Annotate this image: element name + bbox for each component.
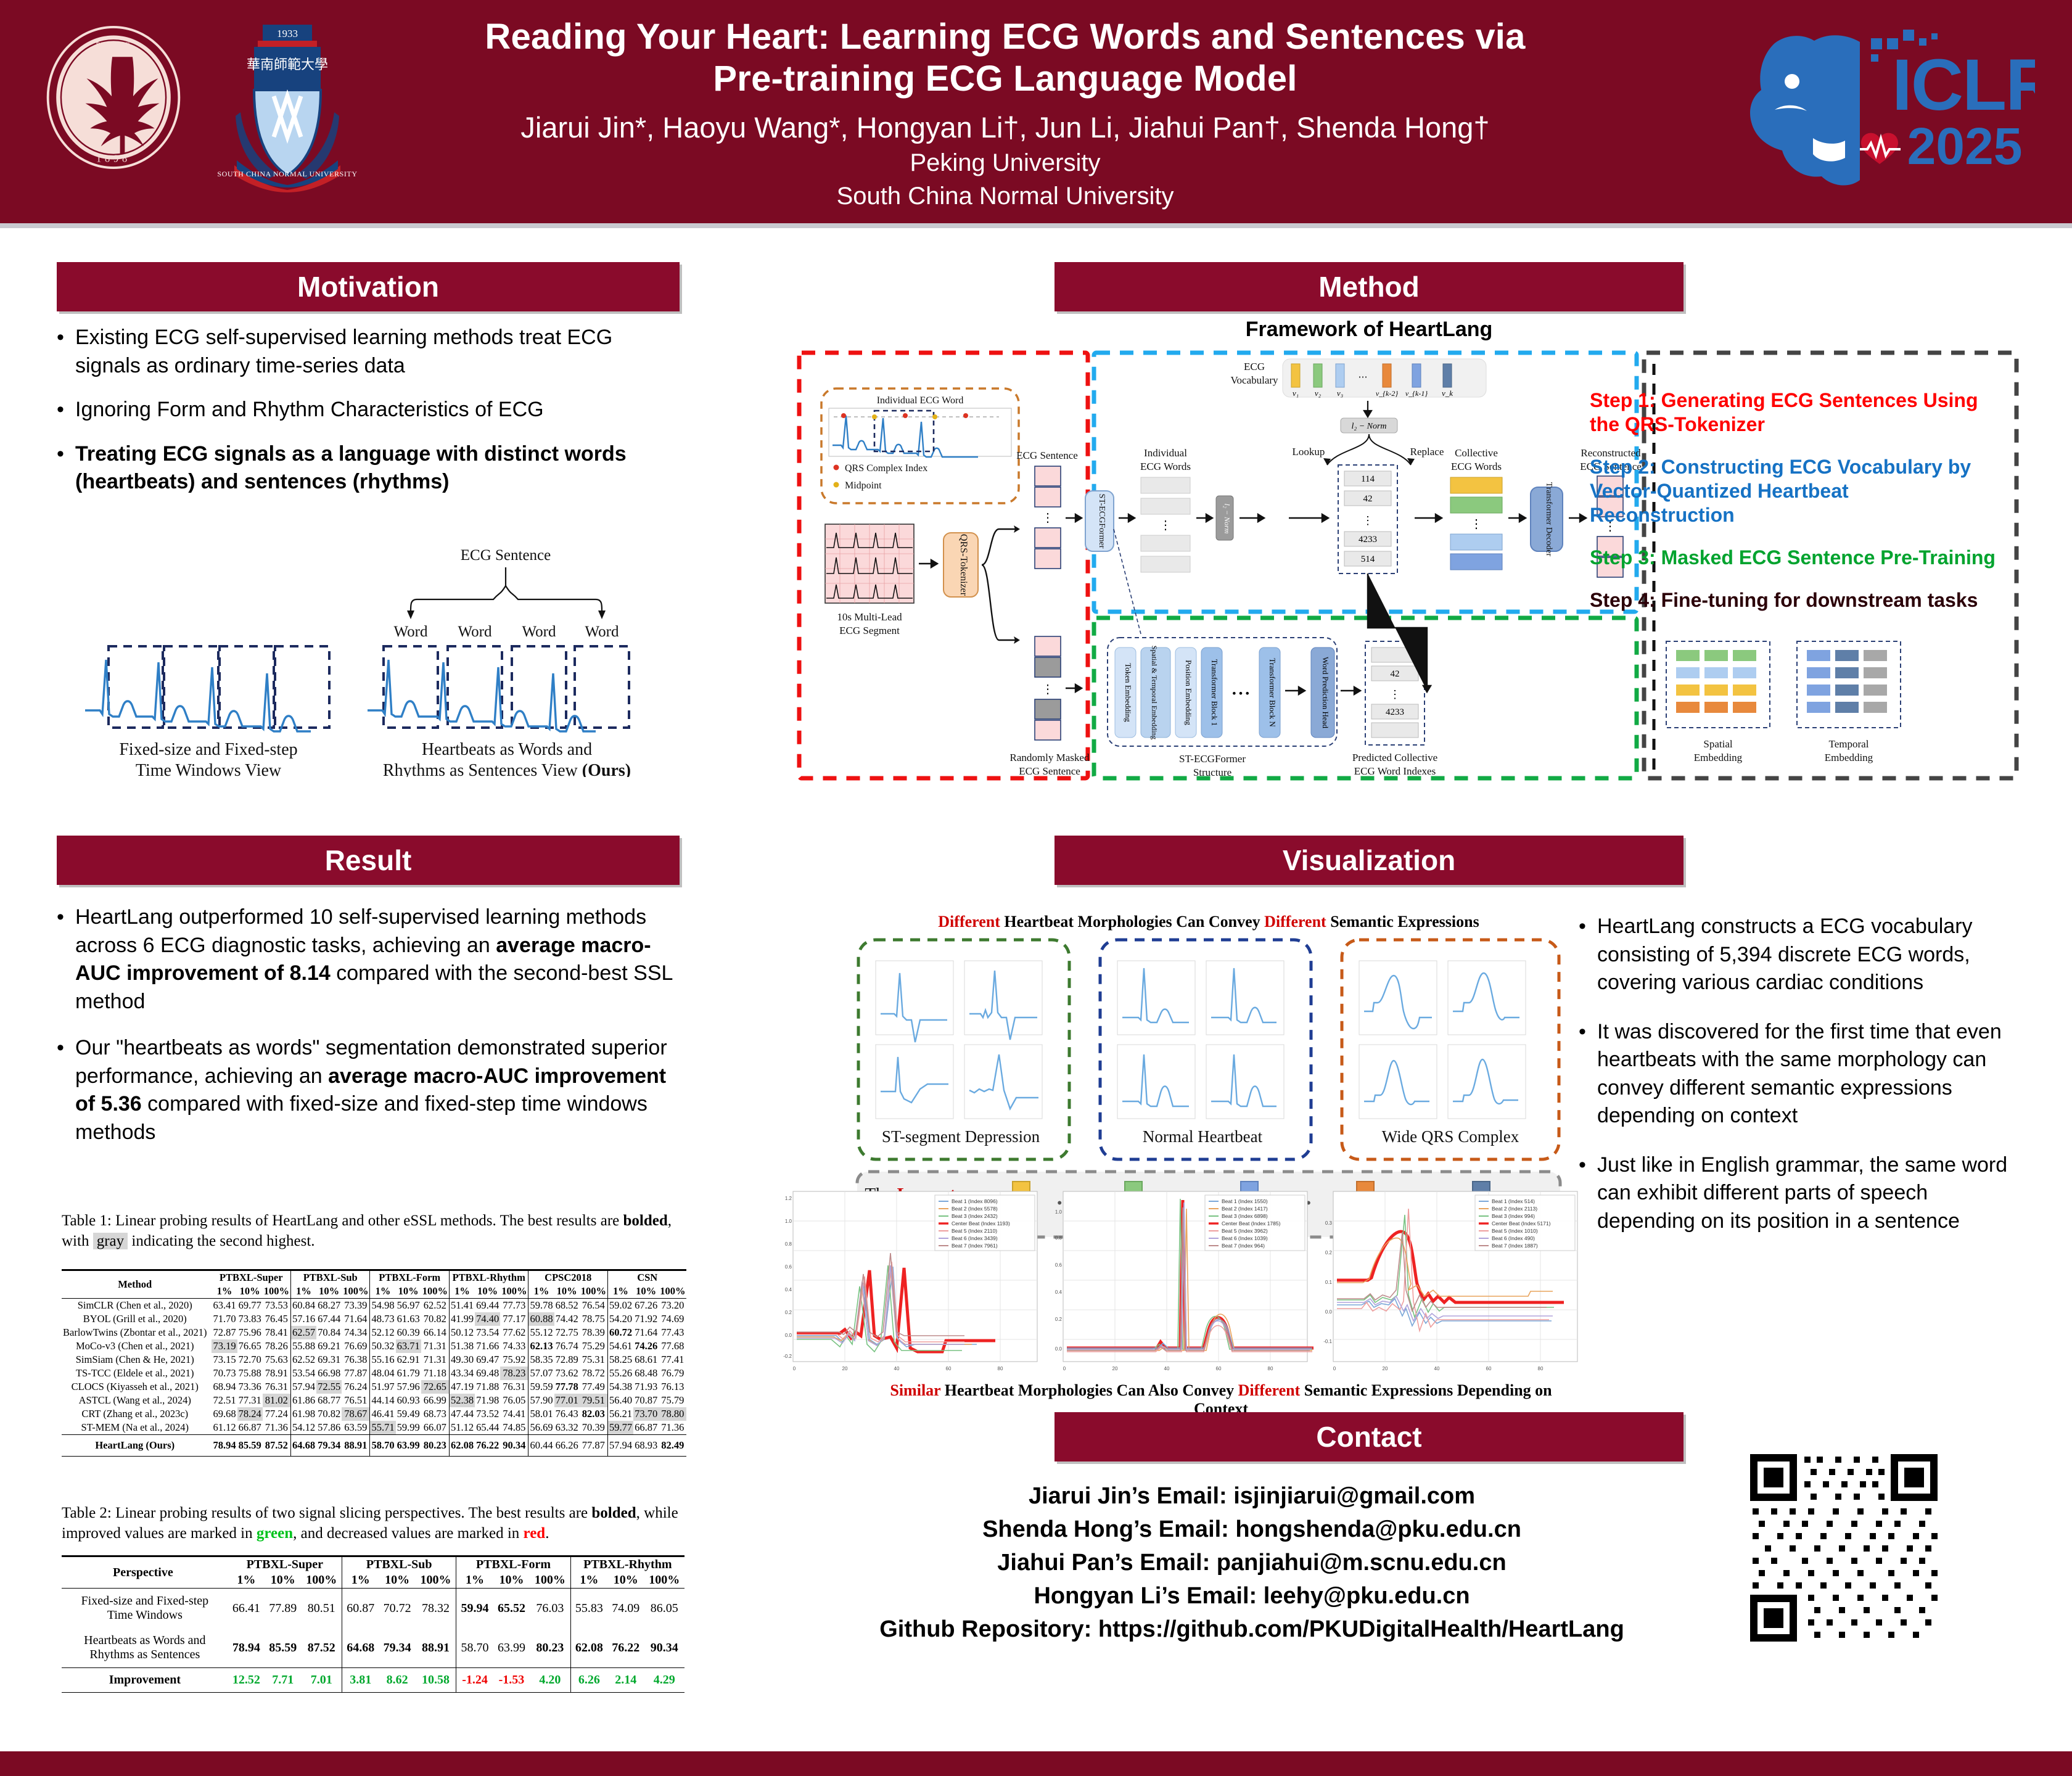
table-cell: 68.94: [212, 1380, 237, 1394]
svg-text:Beat 1 (Index 514): Beat 1 (Index 514): [1492, 1198, 1535, 1204]
table-cell: 69.77: [237, 1299, 263, 1313]
table-cell: 77.73: [500, 1299, 528, 1313]
table1-container: MethodPTBXL-SuperPTBXL-SubPTBXL-FormPTBX…: [62, 1269, 684, 1457]
table-cell: 67.44: [316, 1312, 342, 1326]
table-cell: 71.66: [475, 1339, 500, 1353]
col-group: PTBXL-Super: [212, 1270, 290, 1285]
table-cell: 82.03: [580, 1407, 608, 1421]
table-cell: 79.34: [316, 1435, 342, 1457]
table-cell: -1.24: [456, 1668, 493, 1693]
bullet-dot: •: [57, 440, 75, 496]
table-cell: 58.25: [607, 1353, 633, 1367]
contact-line-jiarui[interactable]: Jiarui Jin’s Email: isjinjiarui@gmail.co…: [814, 1480, 1690, 1513]
svg-text:Predicted Collective: Predicted Collective: [1352, 752, 1437, 763]
affiliation-1: Peking University: [395, 147, 1616, 178]
svg-text:20: 20: [1112, 1366, 1118, 1371]
svg-text:Center Beat (Index 5171): Center Beat (Index 5171): [1492, 1220, 1551, 1227]
col-sub: 10%: [265, 1572, 301, 1589]
contact-line-jiahui[interactable]: Jiahui Pan’s Email: panjiahui@m.scnu.edu…: [814, 1547, 1690, 1580]
table-cell: 78.94: [228, 1628, 265, 1668]
visualization-bullet-3: Just like in English grammar, the same w…: [1597, 1151, 2010, 1236]
motivation-bullet-1: Existing ECG self-supervised learning me…: [75, 324, 680, 380]
table-cell: 57.07: [528, 1367, 554, 1380]
svg-text:Collective: Collective: [1455, 447, 1498, 459]
svg-text:l₂ − Norm: l₂ − Norm: [1351, 422, 1386, 431]
table-cell: 63.99: [493, 1628, 530, 1668]
table-cell: 74.09: [607, 1589, 644, 1629]
table-cell: 6.26: [570, 1668, 607, 1693]
svg-text:Randomly Masked: Randomly Masked: [1010, 752, 1090, 763]
table-cell: 77.78: [554, 1380, 580, 1394]
svg-text:Word: Word: [522, 623, 556, 640]
row-label: TS-TCC (Eldele et al., 2021): [62, 1367, 212, 1380]
table-cell: 73.36: [237, 1380, 263, 1394]
morphology-label-wide-qrs: Wide QRS Complex: [1382, 1127, 1519, 1146]
section-title-result: Result: [325, 846, 412, 874]
table-cell: 52.12: [370, 1326, 396, 1339]
section-banner-motivation: Motivation: [57, 262, 680, 311]
table-cell: 71.36: [263, 1421, 291, 1435]
table-cell: 81.02: [263, 1394, 291, 1407]
table-cell: 78.91: [263, 1367, 291, 1380]
table-cell: 3.81: [342, 1668, 379, 1693]
table-cell: 59.02: [607, 1299, 633, 1313]
table-cell: 62.13: [528, 1339, 554, 1353]
contact-line-hongyan[interactable]: Hongyan Li’s Email: leehy@pku.edu.cn: [814, 1580, 1690, 1613]
svg-text:v_{k-2}: v_{k-2}: [1376, 389, 1398, 398]
table-cell: 69.47: [475, 1353, 500, 1367]
table-cell: 62.91: [396, 1353, 421, 1367]
svg-text:0.0: 0.0: [785, 1333, 792, 1338]
svg-text:QRS-Tokenizer: QRS-Tokenizer: [958, 534, 969, 596]
section-title-motivation: Motivation: [297, 273, 439, 301]
table-cell: 78.75: [580, 1312, 608, 1326]
table-row: CRT (Zhang et al., 2023c)69.6878.2477.24…: [62, 1407, 686, 1421]
table-row-improvement: Improvement12.527.717.013.818.6210.58-1.…: [62, 1668, 684, 1693]
svg-text:⋮: ⋮: [1042, 511, 1054, 525]
table-cell: 76.79: [659, 1367, 686, 1380]
table-cell: 72.75: [554, 1326, 580, 1339]
bullet-dot: •: [57, 324, 75, 380]
table-cell: 79.34: [379, 1628, 415, 1668]
svg-text:Beat 5 (Index 3962): Beat 5 (Index 3962): [1222, 1228, 1268, 1234]
svg-text:Embedding: Embedding: [1825, 752, 1873, 763]
table-cell: 79.51: [580, 1394, 608, 1407]
table-cell: -1.53: [493, 1668, 530, 1693]
table-cell: 54.61: [607, 1339, 633, 1353]
table-cell: 2.14: [607, 1668, 644, 1693]
svg-text:0: 0: [793, 1366, 796, 1371]
col-sub: 1%: [290, 1285, 316, 1299]
table-cell: 66.14: [421, 1326, 450, 1339]
poster-header: PEKING 1898 1933 華南師範大學 SOUTH CHINA NORM…: [0, 0, 2072, 227]
svg-text:0.6: 0.6: [785, 1264, 792, 1270]
morphology-label-st-depression: ST-segment Depression: [882, 1127, 1040, 1146]
header-divider: [0, 223, 2072, 228]
table-cell: 87.52: [301, 1628, 342, 1668]
title-block: Reading Your Heart: Learning ECG Words a…: [395, 16, 1616, 212]
table-cell: 66.99: [421, 1394, 450, 1407]
svg-text:Individual: Individual: [1144, 447, 1187, 459]
svg-text:Replace: Replace: [1410, 446, 1444, 458]
svg-text:l₂ − Norm: l₂ − Norm: [1223, 504, 1231, 534]
svg-text:v₃: v₃: [1337, 388, 1343, 398]
table-cell: 55.16: [370, 1353, 396, 1367]
svg-text:Beat 1 (Index 8096): Beat 1 (Index 8096): [952, 1198, 998, 1204]
col-sub: 100%: [530, 1572, 570, 1589]
table-cell: 59.78: [528, 1299, 554, 1313]
table-cell: 78.94: [212, 1435, 237, 1457]
table-cell: 78.67: [342, 1407, 370, 1421]
table-cell: 55.12: [528, 1326, 554, 1339]
table-cell: 76.38: [342, 1353, 370, 1367]
svg-text:40: 40: [894, 1366, 900, 1371]
table-cell: 68.93: [633, 1435, 659, 1457]
table-cell: 66.87: [633, 1421, 659, 1435]
table-cell: 85.59: [237, 1435, 263, 1457]
svg-text:Beat 2 (Index 1417): Beat 2 (Index 1417): [1222, 1206, 1268, 1212]
table-cell: 8.62: [379, 1668, 415, 1693]
method-step-4: Step 4: Fine-tuning for downstream tasks: [1590, 588, 1997, 612]
table-cell: 78.39: [580, 1326, 608, 1339]
table-cell: 41.99: [449, 1312, 475, 1326]
morphology-groups-figure: ST-segment Depression Normal Heartbeat W…: [851, 936, 1566, 1177]
table-cell: 76.24: [342, 1380, 370, 1394]
svg-text:1933: 1933: [277, 28, 298, 39]
table-cell: 77.17: [500, 1312, 528, 1326]
svg-text:Temporal: Temporal: [1829, 738, 1869, 750]
col-group: CPSC2018: [528, 1270, 608, 1285]
svg-text:ECG Sentence: ECG Sentence: [1019, 765, 1080, 777]
table-cell: 62.57: [290, 1326, 316, 1339]
table-cell: 58.35: [528, 1353, 554, 1367]
svg-text:80: 80: [1268, 1366, 1273, 1371]
table-cell: 12.52: [228, 1668, 265, 1693]
svg-text:0.2: 0.2: [1055, 1317, 1063, 1322]
table-cell: 70.87: [633, 1394, 659, 1407]
author-list: Jiarui Jin*, Haoyu Wang*, Hongyan Li†, J…: [395, 110, 1616, 145]
table-cell: 60.39: [396, 1326, 421, 1339]
section-title-contact: Contact: [1316, 1423, 1421, 1451]
table-cell: 90.34: [644, 1628, 684, 1668]
row-label: MoCo-v3 (Chen et al., 2021): [62, 1339, 212, 1353]
table-cell: 77.31: [237, 1394, 263, 1407]
table-cell: 77.89: [265, 1589, 301, 1629]
col-sub: 10%: [493, 1572, 530, 1589]
svg-text:⋮: ⋮: [1159, 519, 1172, 532]
row-label: Fixed-size and Fixed-stepTime Windows: [62, 1589, 228, 1629]
method-step-3: Step 3: Masked ECG Sentence Pre-Training: [1590, 546, 1997, 570]
table-cell: 58.70: [456, 1628, 493, 1668]
table-cell: 56.69: [528, 1421, 554, 1435]
svg-text:Structure: Structure: [1193, 767, 1231, 778]
table-cell: 76.22: [607, 1628, 644, 1668]
visualization-bullet-2: It was discovered for the first time tha…: [1597, 1018, 2010, 1130]
table-cell: 74.85: [500, 1421, 528, 1435]
svg-text:20: 20: [842, 1366, 848, 1371]
table-cell: 77.41: [659, 1353, 686, 1367]
svg-text:Center Beat (Index 1193): Center Beat (Index 1193): [952, 1220, 1010, 1227]
table-cell: 73.54: [475, 1326, 500, 1339]
svg-text:0.2: 0.2: [1325, 1250, 1333, 1256]
table-row: ASTCL (Wang et al., 2024)72.5177.3181.02…: [62, 1394, 686, 1407]
table-cell: 80.51: [301, 1589, 342, 1629]
table-cell: 51.97: [370, 1380, 396, 1394]
col-sub: 10%: [554, 1285, 580, 1299]
list-item: • Ignoring Form and Rhythm Characteristi…: [57, 396, 680, 424]
table-cell: 73.70: [633, 1407, 659, 1421]
beat-context-plots: Beat 1 (Index 8096) Beat 2 (Index 5578) …: [783, 1178, 1579, 1381]
svg-text:Beat 3 (Index 994): Beat 3 (Index 994): [1492, 1213, 1535, 1219]
table-cell: 74.33: [500, 1339, 528, 1353]
table-cell: 76.05: [500, 1394, 528, 1407]
table-cell: 90.34: [500, 1435, 528, 1457]
table-cell: 63.99: [396, 1435, 421, 1457]
list-item: • Existing ECG self-supervised learning …: [57, 324, 680, 380]
table-cell: 7.01: [301, 1668, 342, 1693]
table-row-final: HeartLang (Ours)78.9485.5987.5264.6879.3…: [62, 1435, 686, 1457]
row-label: SimSiam (Chen & He, 2021): [62, 1353, 212, 1367]
table-cell: 59.99: [396, 1421, 421, 1435]
col-group: CSN: [607, 1270, 686, 1285]
table-row: ST-MEM (Na et al., 2024)61.1266.8771.365…: [62, 1421, 686, 1435]
table-cell: 68.77: [316, 1394, 342, 1407]
svg-text:Rhythms as Sentences View (Our: Rhythms as Sentences View (Ours): [383, 761, 631, 777]
table-cell: 70.39: [580, 1421, 608, 1435]
table-cell: 62.08: [570, 1628, 607, 1668]
svg-text:0.8: 0.8: [1055, 1235, 1063, 1241]
svg-text:Heartbeats as Words and: Heartbeats as Words and: [422, 740, 592, 759]
table-cell: 77.87: [580, 1435, 608, 1457]
svg-text:-0.1: -0.1: [1323, 1339, 1332, 1344]
svg-text:Lookup: Lookup: [1293, 446, 1325, 458]
table-cell: 61.98: [290, 1407, 316, 1421]
svg-text:Fixed-size and Fixed-step: Fixed-size and Fixed-step: [119, 740, 297, 759]
svg-text:80: 80: [998, 1366, 1003, 1371]
section-title-method: Method: [1318, 273, 1420, 301]
col-sub: 10%: [316, 1285, 342, 1299]
table-cell: 62.52: [290, 1353, 316, 1367]
table-cell: 69.21: [316, 1339, 342, 1353]
table-cell: 76.54: [580, 1299, 608, 1313]
table-cell: 71.31: [421, 1339, 450, 1353]
table-cell: 76.31: [500, 1380, 528, 1394]
table-row: MoCo-v3 (Chen et al., 2021)73.1976.6578.…: [62, 1339, 686, 1353]
table-cell: 68.61: [633, 1353, 659, 1367]
table-cell: 57.96: [396, 1380, 421, 1394]
table-cell: 87.52: [263, 1435, 291, 1457]
table1-caption: Table 1: Linear probing results of Heart…: [62, 1211, 684, 1251]
table-cell: 57.86: [316, 1421, 342, 1435]
table-cell: 55.88: [290, 1339, 316, 1353]
visualization-bullet-1: HeartLang constructs a ECG vocabulary co…: [1597, 913, 2010, 997]
col-sub: 1%: [456, 1572, 493, 1589]
svg-text:ECG Sentence: ECG Sentence: [461, 547, 551, 564]
table-cell: 76.74: [554, 1339, 580, 1353]
table-cell: 60.93: [396, 1394, 421, 1407]
table-cell: 70.82: [421, 1312, 450, 1326]
row-label: CLOCS (Kiyasseh et al., 2021): [62, 1380, 212, 1394]
svg-text:0.8: 0.8: [785, 1241, 792, 1247]
svg-text:Beat 6 (Index 3439): Beat 6 (Index 3439): [952, 1235, 998, 1241]
table-cell: 55.26: [607, 1367, 633, 1380]
svg-text:Token Embedding: Token Embedding: [1124, 663, 1133, 722]
col-sub: 1%: [528, 1285, 554, 1299]
col-group: PTBXL-Form: [370, 1270, 450, 1285]
table-cell: 88.91: [416, 1628, 456, 1668]
table-cell: 72.87: [212, 1326, 237, 1339]
bullet-dot: •: [57, 396, 75, 424]
table-cell: 49.30: [449, 1353, 475, 1367]
col-sub: 10%: [396, 1285, 421, 1299]
section-banner-result: Result: [57, 836, 680, 885]
row-label: SimCLR (Chen et al., 2020): [62, 1299, 212, 1313]
contact-line-shenda[interactable]: Shenda Hong’s Email: hongshenda@pku.edu.…: [814, 1513, 1690, 1547]
table-cell: 71.92: [633, 1312, 659, 1326]
qr-code[interactable]: [1745, 1449, 1942, 1646]
svg-text:42: 42: [1391, 669, 1400, 679]
bullet-dot: •: [1579, 913, 1597, 997]
table-cell: 73.15: [212, 1353, 237, 1367]
table-cell: 57.94: [290, 1380, 316, 1394]
svg-text:ECG Segment: ECG Segment: [839, 625, 900, 636]
svg-text:0.0: 0.0: [1325, 1309, 1333, 1315]
table-cell: 4.29: [644, 1668, 684, 1693]
svg-text:60: 60: [946, 1366, 952, 1371]
svg-text:2025: 2025: [1907, 117, 2023, 175]
method-steps: Step 1: Generating ECG Sentences Using t…: [1590, 388, 1997, 631]
table-row: CLOCS (Kiyasseh et al., 2021)68.9473.367…: [62, 1380, 686, 1394]
motivation-ecg-figure: ECG Sentence Word Word Word Word Fixed-s…: [68, 543, 678, 777]
table-cell: 76.13: [659, 1380, 686, 1394]
table-cell: 54.98: [370, 1299, 396, 1313]
section-title-visualization: Visualization: [1283, 846, 1455, 874]
table-cell: 75.88: [237, 1367, 263, 1380]
table-cell: 76.43: [554, 1407, 580, 1421]
table-cell: 77.24: [263, 1407, 291, 1421]
table-cell: 69.48: [475, 1367, 500, 1380]
table-cell: 72.55: [316, 1380, 342, 1394]
table-row: SimCLR (Chen et al., 2020)63.4169.7773.5…: [62, 1299, 686, 1313]
svg-text:0.6: 0.6: [1055, 1262, 1063, 1268]
col-sub: 10%: [379, 1572, 415, 1589]
table-cell: 72.89: [554, 1353, 580, 1367]
table-cell: 61.63: [396, 1312, 421, 1326]
svg-text:Beat 7 (Index 7961): Beat 7 (Index 7961): [952, 1243, 998, 1249]
table-cell: 76.45: [263, 1312, 291, 1326]
table-cell: 10.58: [416, 1668, 456, 1693]
svg-text:ICLR: ICLR: [1892, 44, 2035, 126]
list-item: • Our "heartbeats as words" segmentation…: [57, 1034, 686, 1146]
svg-text:4233: 4233: [1359, 535, 1377, 545]
table-cell: 70.84: [316, 1326, 342, 1339]
contact-line-github[interactable]: Github Repository: https://github.com/PK…: [814, 1613, 1690, 1646]
svg-text:Word Prediction Head: Word Prediction Head: [1321, 657, 1330, 728]
table-cell: 78.23: [500, 1367, 528, 1380]
svg-text:⋮: ⋮: [1389, 688, 1400, 701]
table-cell: 57.94: [607, 1435, 633, 1457]
table-cell: 73.53: [263, 1299, 291, 1313]
svg-text:Beat 5 (Index 2110): Beat 5 (Index 2110): [952, 1228, 997, 1234]
svg-text:Beat 6 (Index 490): Beat 6 (Index 490): [1492, 1235, 1535, 1241]
svg-text:Beat 3 (Index 6898): Beat 3 (Index 6898): [1222, 1213, 1268, 1219]
svg-text:20: 20: [1383, 1366, 1388, 1371]
svg-text:Embedding: Embedding: [1694, 752, 1743, 763]
visualization-bullets: • HeartLang constructs a ECG vocabulary …: [1579, 913, 2010, 1251]
svg-text:1.2: 1.2: [785, 1196, 792, 1201]
col-sub: 1%: [212, 1285, 237, 1299]
svg-text:4233: 4233: [1386, 707, 1404, 717]
bullet-dot: •: [1579, 1018, 1597, 1130]
table-cell: 68.52: [554, 1299, 580, 1313]
table-cell: 86.05: [644, 1589, 684, 1629]
table-cell: 67.26: [633, 1299, 659, 1313]
table-cell: 88.91: [342, 1435, 370, 1457]
table-row: BYOL (Grill et al., 2020)71.7073.8376.45…: [62, 1312, 686, 1326]
peking-university-logo: PEKING 1898: [42, 26, 185, 169]
table-cell: 73.20: [659, 1299, 686, 1313]
table-cell: 63.71: [396, 1339, 421, 1353]
section-banner-contact: Contact: [1054, 1412, 1683, 1461]
table-cell: 65.52: [493, 1589, 530, 1629]
svg-text:Beat 5 (Index 1010): Beat 5 (Index 1010): [1492, 1228, 1538, 1234]
page-title: Reading Your Heart: Learning ECG Words a…: [395, 16, 1616, 101]
table-cell: 76.31: [263, 1380, 291, 1394]
table-cell: 77.87: [342, 1367, 370, 1380]
table-cell: 62.52: [421, 1299, 450, 1313]
col-sub: 1%: [228, 1572, 265, 1589]
table-cell: 52.38: [449, 1394, 475, 1407]
results-table-1: MethodPTBXL-SuperPTBXL-SubPTBXL-FormPTBX…: [62, 1269, 686, 1457]
table-cell: 74.34: [342, 1326, 370, 1339]
svg-text:Transformer Block 1: Transformer Block 1: [1210, 659, 1219, 726]
svg-text:60: 60: [1486, 1366, 1492, 1371]
svg-text:514: 514: [1361, 554, 1375, 564]
svg-text:Spatial: Spatial: [1703, 738, 1732, 750]
svg-text:Transformer Decoder: Transformer Decoder: [1544, 482, 1553, 557]
table-cell: 69.44: [475, 1299, 500, 1313]
col-sub: 10%: [237, 1285, 263, 1299]
row-label: HeartLang (Ours): [62, 1435, 212, 1457]
svg-text:Midpoint: Midpoint: [845, 480, 882, 491]
col-sub: 100%: [301, 1572, 342, 1589]
table-cell: 50.12: [449, 1326, 475, 1339]
table-row: BarlowTwins (Zbontar et al., 2021)72.877…: [62, 1326, 686, 1339]
svg-text:⋮: ⋮: [1470, 517, 1482, 531]
table-cell: 51.38: [449, 1339, 475, 1353]
morphology-label-normal: Normal Heartbeat: [1143, 1127, 1263, 1146]
row-label: BYOL (Grill et al., 2020): [62, 1312, 212, 1326]
table-row: Heartbeats as Words andRhythms as Senten…: [62, 1628, 684, 1668]
section-banner-visualization: Visualization: [1054, 836, 1683, 885]
list-item: • HeartLang outperformed 10 self-supervi…: [57, 903, 686, 1016]
svg-text:Vocabulary: Vocabulary: [1230, 374, 1278, 386]
svg-text:PEKING: PEKING: [96, 41, 131, 49]
table-cell: 53.54: [290, 1367, 316, 1380]
col-group: PTBXL-Rhythm: [570, 1556, 684, 1573]
row-label: Heartbeats as Words andRhythms as Senten…: [62, 1628, 228, 1668]
svg-text:• • •: • • •: [1232, 688, 1249, 699]
table-cell: 50.32: [370, 1339, 396, 1353]
svg-text:0: 0: [1063, 1366, 1066, 1371]
result-bullet-1: HeartLang outperformed 10 self-supervise…: [75, 903, 686, 1016]
svg-text:Beat 7 (Index 1887): Beat 7 (Index 1887): [1492, 1243, 1538, 1249]
affiliation-2: South China Normal University: [395, 181, 1616, 212]
table-cell: 48.73: [370, 1312, 396, 1326]
svg-text:Beat 3 (Index 2432): Beat 3 (Index 2432): [952, 1213, 998, 1219]
svg-text:42: 42: [1363, 494, 1373, 504]
col-sub: 100%: [421, 1285, 450, 1299]
